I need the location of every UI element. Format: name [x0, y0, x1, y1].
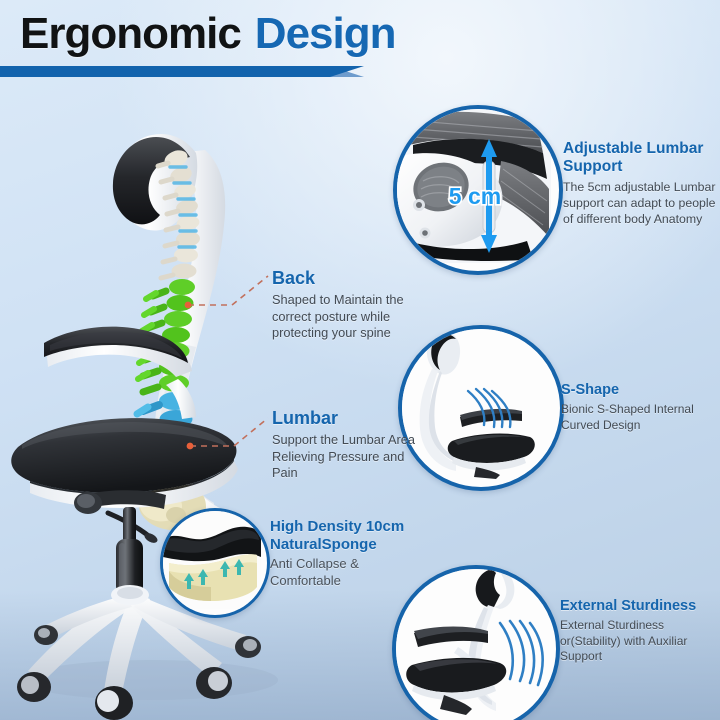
body-lumbar: Support the Lumbar Area Relieving Pressu…	[272, 432, 422, 482]
heading-external-sturdiness: External Sturdiness	[560, 598, 720, 615]
title-underline-bar	[0, 66, 330, 77]
infographic-page: ErgonomicDesign	[0, 0, 720, 720]
header: ErgonomicDesign	[0, 0, 720, 88]
body-sponge: Anti Collapse & Comfortable	[270, 556, 430, 590]
heading-back: Back	[272, 268, 422, 289]
callout-circle-s-shape	[398, 325, 564, 491]
text-block-sponge: High Density 10cm NaturalSponge Anti Col…	[270, 518, 430, 590]
body-back: Shaped to Maintain the correct posture w…	[272, 292, 422, 342]
body-s-shape: Bionic S-Shaped Internal Curved Design	[561, 402, 720, 433]
text-block-s-shape: S-Shape Bionic S-Shaped Internal Curved …	[561, 382, 720, 433]
text-block-lumbar: Lumbar Support the Lumbar Area Relieving…	[272, 408, 422, 482]
page-title: ErgonomicDesign	[20, 8, 396, 60]
title-word-design: Design	[255, 9, 396, 58]
svg-text:5 cm: 5 cm	[449, 183, 501, 209]
body-adjustable-lumbar: The 5cm adjustable Lumbar support can ad…	[563, 180, 720, 228]
text-block-external-sturdiness: External Sturdiness External Sturdiness …	[560, 598, 720, 665]
callout-circle-sponge	[160, 508, 270, 618]
heading-sponge: High Density 10cm NaturalSponge	[270, 518, 430, 553]
title-word-ergonomic: Ergonomic	[20, 9, 241, 58]
heading-adjustable-lumbar: Adjustable Lumbar Support	[563, 140, 720, 177]
text-block-back: Back Shaped to Maintain the correct post…	[272, 268, 422, 342]
title-underline-taper	[330, 66, 364, 77]
text-block-adjustable-lumbar: Adjustable Lumbar Support The 5cm adjust…	[563, 140, 720, 228]
heading-s-shape: S-Shape	[561, 382, 720, 399]
callout-circle-adjustable-lumbar: 5 cm	[393, 105, 563, 275]
body-external-sturdiness: External Sturdiness or(Stability) with A…	[560, 618, 720, 665]
heading-lumbar: Lumbar	[272, 408, 422, 429]
